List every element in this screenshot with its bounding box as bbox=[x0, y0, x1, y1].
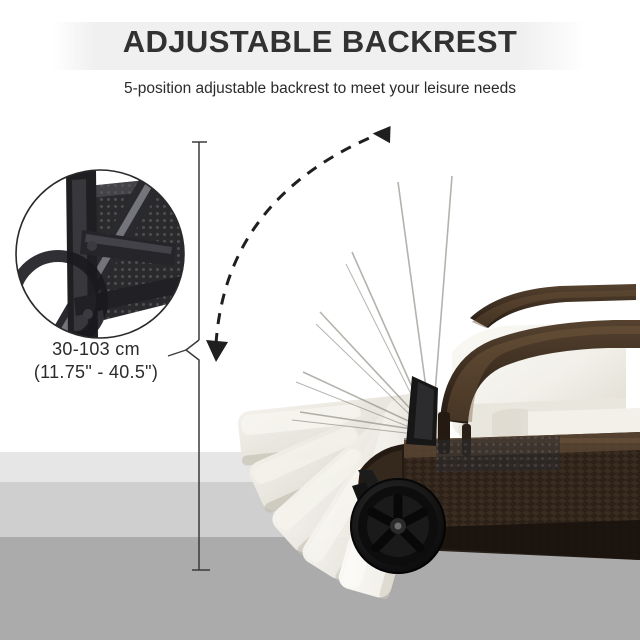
measurement-imperial: (11.75" - 40.5") bbox=[6, 361, 186, 384]
detail-inset-circle bbox=[6, 168, 184, 352]
page-title: ADJUSTABLE BACKREST bbox=[0, 24, 640, 60]
measurement-metric: 30-103 cm bbox=[6, 338, 186, 361]
measurement-label: 30-103 cm (11.75" - 40.5") bbox=[6, 338, 186, 384]
product-infographic: ADJUSTABLE BACKREST 5-position adjustabl… bbox=[0, 0, 640, 640]
page-subtitle: 5-position adjustable backrest to meet y… bbox=[0, 80, 640, 98]
